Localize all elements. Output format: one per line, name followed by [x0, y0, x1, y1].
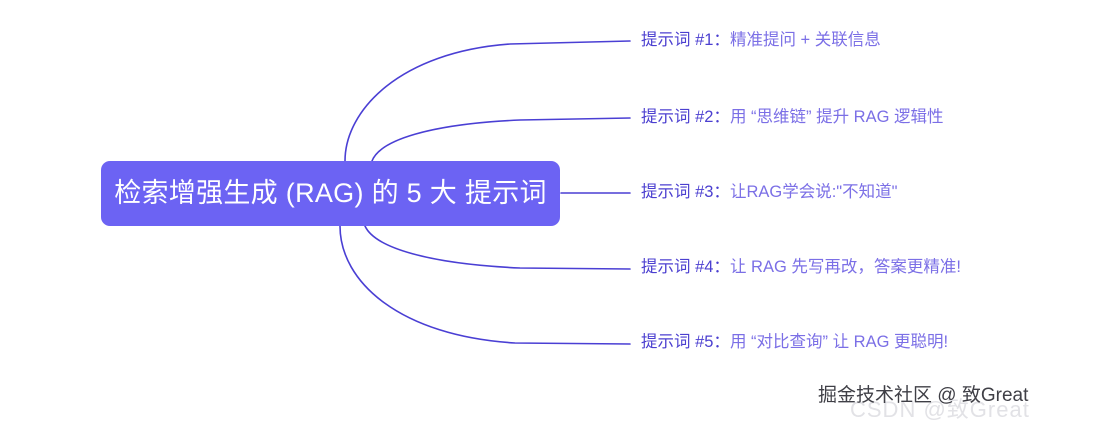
- mindmap-branch-2-index: 提示词 #2：: [641, 108, 730, 126]
- edge-to-branch-5: [340, 226, 630, 344]
- mindmap-branch-5-index: 提示词 #5：: [641, 333, 730, 351]
- mindmap-branch-4-index: 提示词 #4：: [641, 258, 730, 276]
- edge-to-branch-2: [372, 118, 630, 161]
- mindmap-branch-2[interactable]: 提示词 #2：用 “思维链” 提升 RAG 逻辑性: [641, 108, 944, 128]
- mindmap-branch-3-text: 让RAG学会说:"不知道": [730, 183, 898, 201]
- mindmap-branch-4[interactable]: 提示词 #4：让 RAG 先写再改，答案更精准!: [641, 258, 961, 278]
- mindmap-root-label: 检索增强生成 (RAG) 的 5 大 提示词: [114, 179, 547, 209]
- edge-to-branch-1: [345, 41, 630, 161]
- edge-to-branch-4: [365, 226, 630, 269]
- mindmap-branch-1-text: 精准提问 + 关联信息: [730, 31, 881, 49]
- mindmap-branch-4-text: 让 RAG 先写再改，答案更精准!: [730, 258, 961, 276]
- mindmap-branch-3[interactable]: 提示词 #3：让RAG学会说:"不知道": [641, 183, 898, 203]
- mindmap-branch-3-index: 提示词 #3：: [641, 183, 730, 201]
- mindmap-branch-5[interactable]: 提示词 #5：用 “对比查询” 让 RAG 更聪明!: [641, 333, 948, 353]
- mindmap-branch-5-text: 用 “对比查询” 让 RAG 更聪明!: [730, 333, 948, 351]
- mindmap-branch-2-text: 用 “思维链” 提升 RAG 逻辑性: [730, 108, 944, 126]
- mindmap-branch-1[interactable]: 提示词 #1：精准提问 + 关联信息: [641, 31, 881, 51]
- watermark-author: 掘金技术社区 @ 致Great: [818, 380, 1028, 407]
- mindmap-root-node[interactable]: 检索增强生成 (RAG) 的 5 大 提示词: [101, 161, 560, 226]
- mindmap-branch-1-index: 提示词 #1：: [641, 31, 730, 49]
- mindmap-canvas: 检索增强生成 (RAG) 的 5 大 提示词 提示词 #1：精准提问 + 关联信…: [0, 0, 1110, 430]
